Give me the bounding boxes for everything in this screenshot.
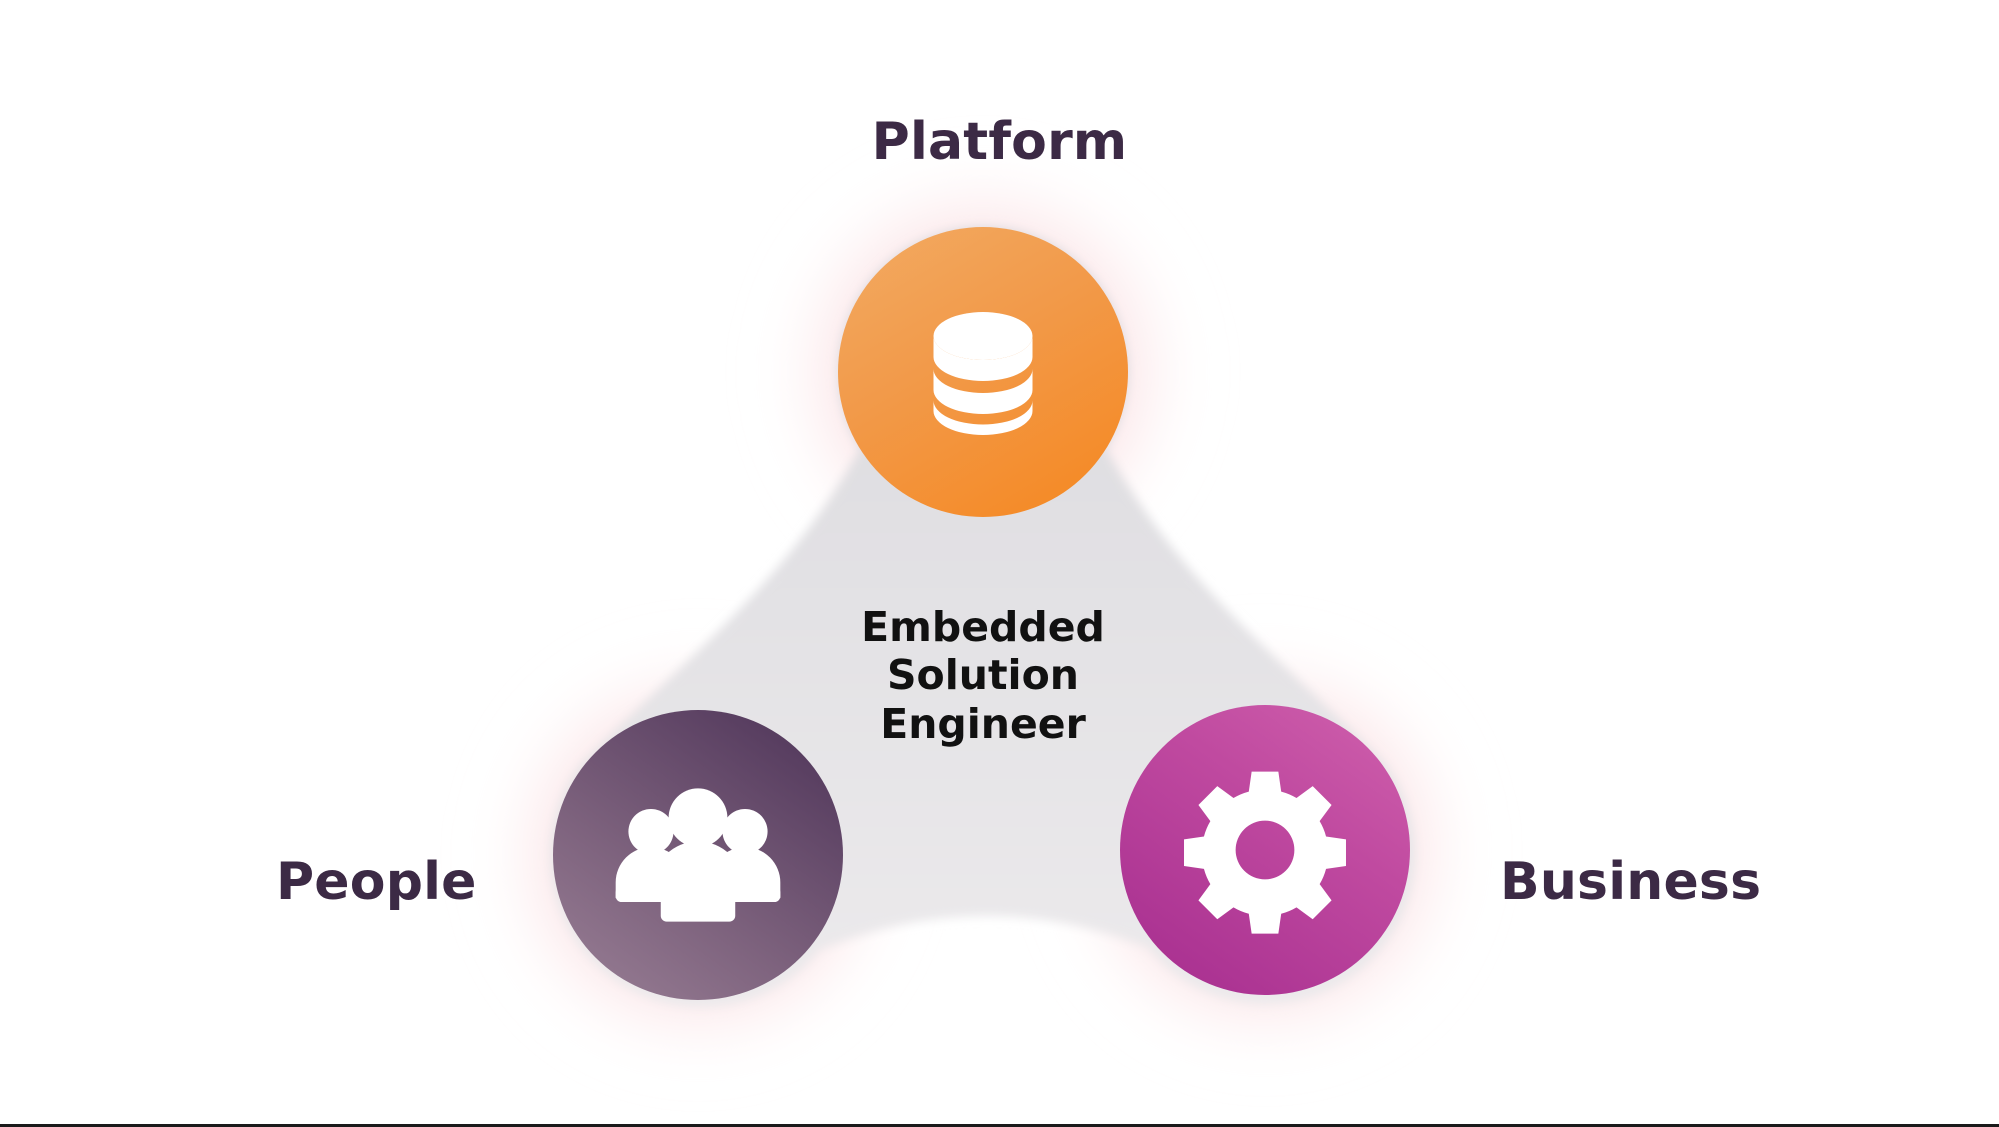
- diagram-stage: Platform People Business Embedded Soluti…: [0, 0, 1999, 1124]
- center-caption-line-3: Engineer: [838, 700, 1128, 748]
- center-caption: Embedded Solution Engineer: [838, 603, 1128, 748]
- node-platform[interactable]: [838, 227, 1128, 517]
- node-people[interactable]: [553, 710, 843, 1000]
- label-business: Business: [1500, 852, 1761, 912]
- people-group-icon: [600, 757, 796, 953]
- label-platform: Platform: [0, 112, 1999, 172]
- gear-icon: [1176, 761, 1354, 939]
- database-icon: [908, 297, 1058, 447]
- node-business[interactable]: [1120, 705, 1410, 995]
- label-people: People: [276, 852, 477, 912]
- center-caption-line-2: Solution: [838, 651, 1128, 699]
- center-caption-line-1: Embedded: [838, 603, 1128, 651]
